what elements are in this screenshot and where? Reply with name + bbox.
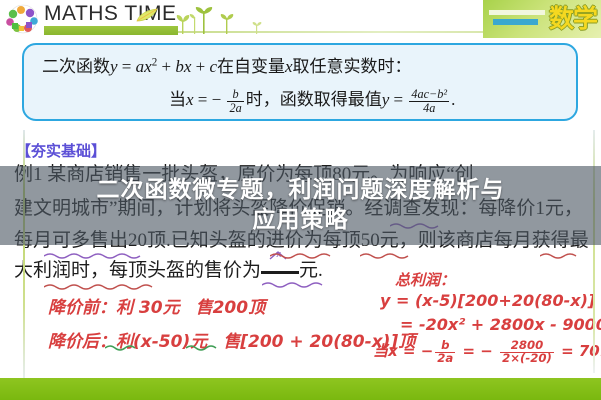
annotation-squiggle-1 xyxy=(44,252,144,259)
people-circle-logo-icon xyxy=(3,3,43,35)
title-overlay-text: 二次函数微专题，利润问题深度解析与 应用策略 xyxy=(0,166,601,245)
slide-page: MATHS TIME xyxy=(0,0,601,400)
badge-blue-stripe xyxy=(493,19,538,25)
formula-l2-mid: 时，函数取得最值 xyxy=(246,90,382,109)
green-squiggle-2 xyxy=(186,344,220,351)
formula-l1-prefix: 二次函数 xyxy=(42,57,110,76)
annotation-squiggle-6 xyxy=(262,281,326,288)
hw-frac1-den: 2a xyxy=(435,353,455,365)
problem-l4-a: 大利润时，每顶头盔的售价为 xyxy=(14,260,261,281)
hw-before-sales: 售200顶 xyxy=(196,298,266,318)
frac-num: b xyxy=(227,88,243,102)
problem-l4-b: 元. xyxy=(299,260,323,281)
sprouts-decoration-icon xyxy=(168,6,278,36)
annotation-squiggle-9 xyxy=(540,252,586,259)
formula-l1-tail2: 取任意实数时： xyxy=(293,57,412,76)
overlay-title-line-2: 应用策略 xyxy=(253,206,349,235)
formula-l1-b: b xyxy=(175,57,184,76)
formula-l1-y: y xyxy=(110,57,118,76)
handwriting-equation-3: 当x = −b2a = − 28002×(-20) = 70时，利润最大 xyxy=(373,340,601,365)
formula-l1-plus2: + xyxy=(191,57,209,76)
formula-l2-when: 当 xyxy=(169,90,186,109)
footer-green-bar xyxy=(0,378,601,400)
handwriting-equation-1: y = (x-5)[200+20(80-x)] xyxy=(380,291,595,310)
header-green-bar xyxy=(44,26,178,35)
hw-before-profit: 利 30元 xyxy=(116,298,180,318)
green-squiggle-1 xyxy=(105,344,145,351)
hw-fraction-b-2a: b2a xyxy=(435,340,455,365)
formula-l1-tail: 在自变量 xyxy=(217,57,285,76)
formula-fraction-max: 4ac−b²4a xyxy=(409,88,449,115)
formula-l2-period: . xyxy=(451,90,455,109)
badge-white-stripe xyxy=(489,10,545,15)
formula-l2-eq: = − xyxy=(194,90,226,109)
badge-label: 数学 xyxy=(549,1,597,37)
formula-fraction-b-2a: b2a xyxy=(227,88,243,115)
formula-l1-x: x xyxy=(144,57,152,76)
hw-eq3-mid: = − xyxy=(457,342,498,360)
card-spacer xyxy=(0,121,601,130)
frac-den: 2a xyxy=(227,102,243,115)
handwriting-total-profit-label: 总利润： xyxy=(395,269,455,290)
answer-blank xyxy=(261,271,299,274)
formula-line-2: 当x = − b2a时，函数取得最值y = 4ac−b²4a. xyxy=(169,85,455,115)
annotation-squiggle-8 xyxy=(360,252,420,259)
problem-line-4: 大利润时，每顶头盔的售价为元. xyxy=(14,261,592,280)
formula-l1-c: c xyxy=(209,57,217,76)
right-margin-rule xyxy=(593,128,595,373)
page-header: MATHS TIME xyxy=(0,0,601,38)
formula-l2-x: x xyxy=(186,90,194,109)
formula-l1-eq: = xyxy=(118,57,136,76)
formula-l1-plus1: + xyxy=(157,57,175,76)
formula-card: 二次函数y = ax2 + bx + c在自变量x取任意实数时： 当x = − … xyxy=(22,43,578,121)
hw-frac2-den: 2×(-20) xyxy=(500,353,554,365)
handwriting-after-price: 降价后：利(x-50)元售[200 + 20(80-x)]顶 xyxy=(48,327,415,352)
formula-line-1: 二次函数y = ax2 + bx + c在自变量x取任意实数时： xyxy=(42,52,412,77)
math-subject-badge: 数学 xyxy=(483,0,601,38)
annotation-squiggle-7 xyxy=(270,252,336,259)
handwriting-before-price: 降价前：利 30元售200顶 xyxy=(48,293,265,318)
annotation-squiggle-5 xyxy=(44,283,162,290)
formula-l1-x3: x xyxy=(285,57,293,76)
handwriting-equation-2: = -20x² + 2800x - 90000 xyxy=(400,315,601,334)
frac2-den: 4a xyxy=(409,102,449,115)
hw-before-label: 降价前： xyxy=(48,298,116,318)
formula-l1-a: a xyxy=(136,57,145,76)
hw-eq3-prefix: 当x = − xyxy=(373,342,433,360)
frac2-num: 4ac−b² xyxy=(409,88,449,102)
section-tag: 【夯实基础】 xyxy=(16,140,106,161)
hw-fraction-2800: 28002×(-20) xyxy=(500,340,554,365)
formula-l2-eq2: = xyxy=(389,90,407,109)
leaf-icon xyxy=(136,8,158,24)
overlay-title-line-1: 二次函数微专题，利润问题深度解析与 xyxy=(97,176,505,205)
